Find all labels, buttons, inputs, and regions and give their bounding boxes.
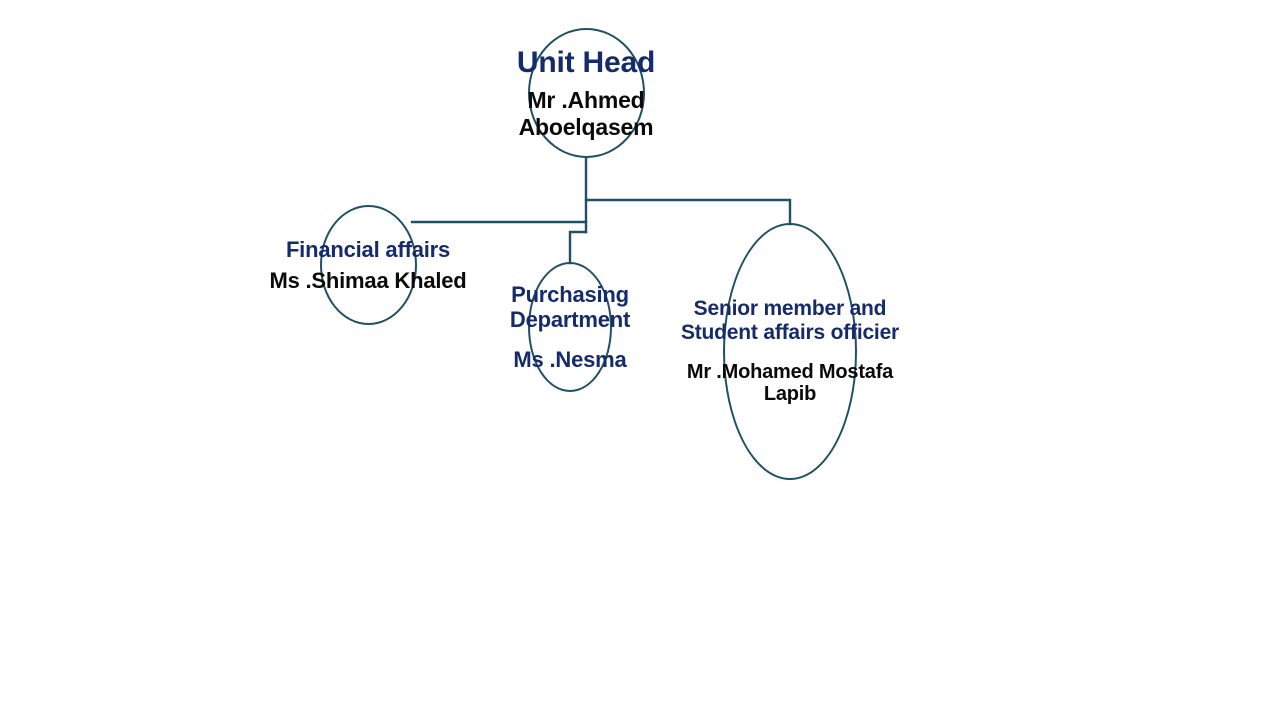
node-name-line-1: Mr .Ahmed [517, 87, 655, 113]
node-title-purchasing-department: Purchasing Department [510, 282, 630, 332]
node-text-financial-affairs: Financial affairs Ms .Shimaa Khaled [269, 237, 466, 293]
node-name-senior-member: Mr .Mohamed Mostafa Lapib [681, 361, 899, 407]
connector-root-to-senior [586, 200, 790, 224]
node-name-purchasing-department: Ms .Nesma [510, 347, 630, 372]
node-title-financial-affairs: Financial affairs [269, 237, 466, 262]
node-name-unit-head: Mr .Ahmed Aboelqasem [517, 87, 655, 139]
node-text-unit-head: Unit Head Mr .Ahmed Aboelqasem [517, 46, 655, 140]
org-node-financial-affairs[interactable]: Financial affairs Ms .Shimaa Khaled [243, 205, 493, 325]
node-name-line-2: Lapib [681, 383, 899, 406]
node-title-line-2: Student affairs officier [681, 321, 899, 345]
connector-root-to-purchasing [570, 232, 586, 263]
node-name-line-2: Aboelqasem [517, 114, 655, 140]
node-title-senior-member: Senior member and Student affairs offici… [681, 297, 899, 345]
node-title-line-1: Senior member and [681, 297, 899, 321]
node-name-line-1: Mr .Mohamed Mostafa [681, 361, 899, 384]
node-title-unit-head: Unit Head [517, 46, 655, 80]
org-node-unit-head[interactable]: Unit Head Mr .Ahmed Aboelqasem [486, 28, 686, 158]
node-title-line-2: Department [510, 307, 630, 332]
org-node-senior-member[interactable]: Senior member and Student affairs offici… [650, 223, 930, 480]
node-title-line-1: Purchasing [510, 282, 630, 307]
org-node-purchasing-department[interactable]: Purchasing Department Ms .Nesma [480, 262, 660, 392]
node-text-purchasing-department: Purchasing Department Ms .Nesma [510, 282, 630, 371]
node-text-senior-member: Senior member and Student affairs offici… [681, 297, 899, 406]
node-name-financial-affairs: Ms .Shimaa Khaled [269, 268, 466, 293]
org-chart-canvas: Unit Head Mr .Ahmed Aboelqasem Financial… [0, 0, 1280, 720]
